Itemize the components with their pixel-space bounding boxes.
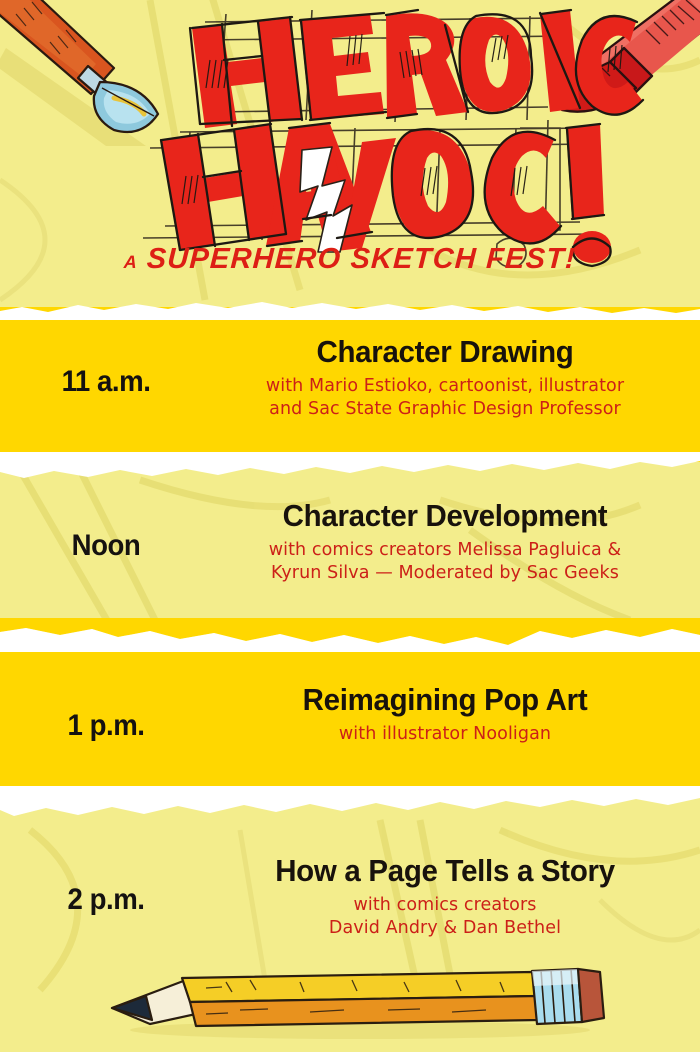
torn-edge-bottom-2: [0, 618, 700, 652]
schedule-row-4: 2 p.m. How a Page Tells a Story with com…: [0, 855, 700, 941]
poster-canvas: A SUPERHERO SKETCH FEST!: [0, 0, 700, 1052]
schedule-row-3: 1 p.m. Reimagining Pop Art with illustra…: [0, 684, 700, 746]
schedule-row-1: 11 a.m. Character Drawing with Mario Est…: [0, 336, 700, 422]
schedule-title-2: Character Development: [224, 500, 667, 533]
subtitle-rest: SUPERHERO SKETCH FEST!: [146, 243, 577, 275]
schedule-subtitle-4-line-2: David Andry & Dan Bethel: [212, 917, 678, 941]
schedule-subtitle-1-line-1: with Mario Estioko, cartoonist, illustra…: [212, 375, 678, 399]
schedule-session-4: How a Page Tells a Story with comics cre…: [212, 855, 700, 941]
schedule-title-4: How a Page Tells a Story: [224, 855, 667, 888]
schedule-session-3: Reimagining Pop Art with illustrator Noo…: [212, 684, 700, 746]
schedule-time-3: 1 p.m.: [8, 709, 203, 743]
schedule-title-3: Reimagining Pop Art: [224, 684, 667, 717]
poster-subtitle: A SUPERHERO SKETCH FEST!: [0, 243, 700, 276]
schedule-subtitle-2-line-1: with comics creators Melissa Pagluica &: [212, 539, 678, 563]
schedule-session-2: Character Development with comics creato…: [212, 500, 700, 586]
schedule-subtitle-1: with Mario Estioko, cartoonist, illustra…: [212, 375, 678, 423]
schedule-subtitle-4: with comics creators David Andry & Dan B…: [212, 894, 678, 942]
schedule-subtitle-3: with illustrator Nooligan: [212, 723, 678, 747]
schedule-title-1: Character Drawing: [224, 336, 667, 369]
schedule-subtitle-2: with comics creators Melissa Pagluica & …: [212, 539, 678, 587]
schedule-subtitle-1-line-2: and Sac State Graphic Design Professor: [212, 398, 678, 422]
schedule-time-1: 11 a.m.: [8, 365, 203, 399]
schedule-subtitle-4-line-1: with comics creators: [212, 894, 678, 918]
schedule-row-2: Noon Character Development with comics c…: [0, 500, 700, 586]
schedule-subtitle-2-line-2: Kyrun Silva — Moderated by Sac Geeks: [212, 562, 678, 586]
schedule-time-2: Noon: [8, 529, 203, 563]
schedule-session-1: Character Drawing with Mario Estioko, ca…: [212, 336, 700, 422]
subtitle-lead: A: [123, 252, 138, 272]
schedule-subtitle-3-line-1: with illustrator Nooligan: [212, 723, 678, 747]
pencil-illustration: [0, 952, 700, 1052]
schedule-time-4: 2 p.m.: [8, 883, 203, 917]
